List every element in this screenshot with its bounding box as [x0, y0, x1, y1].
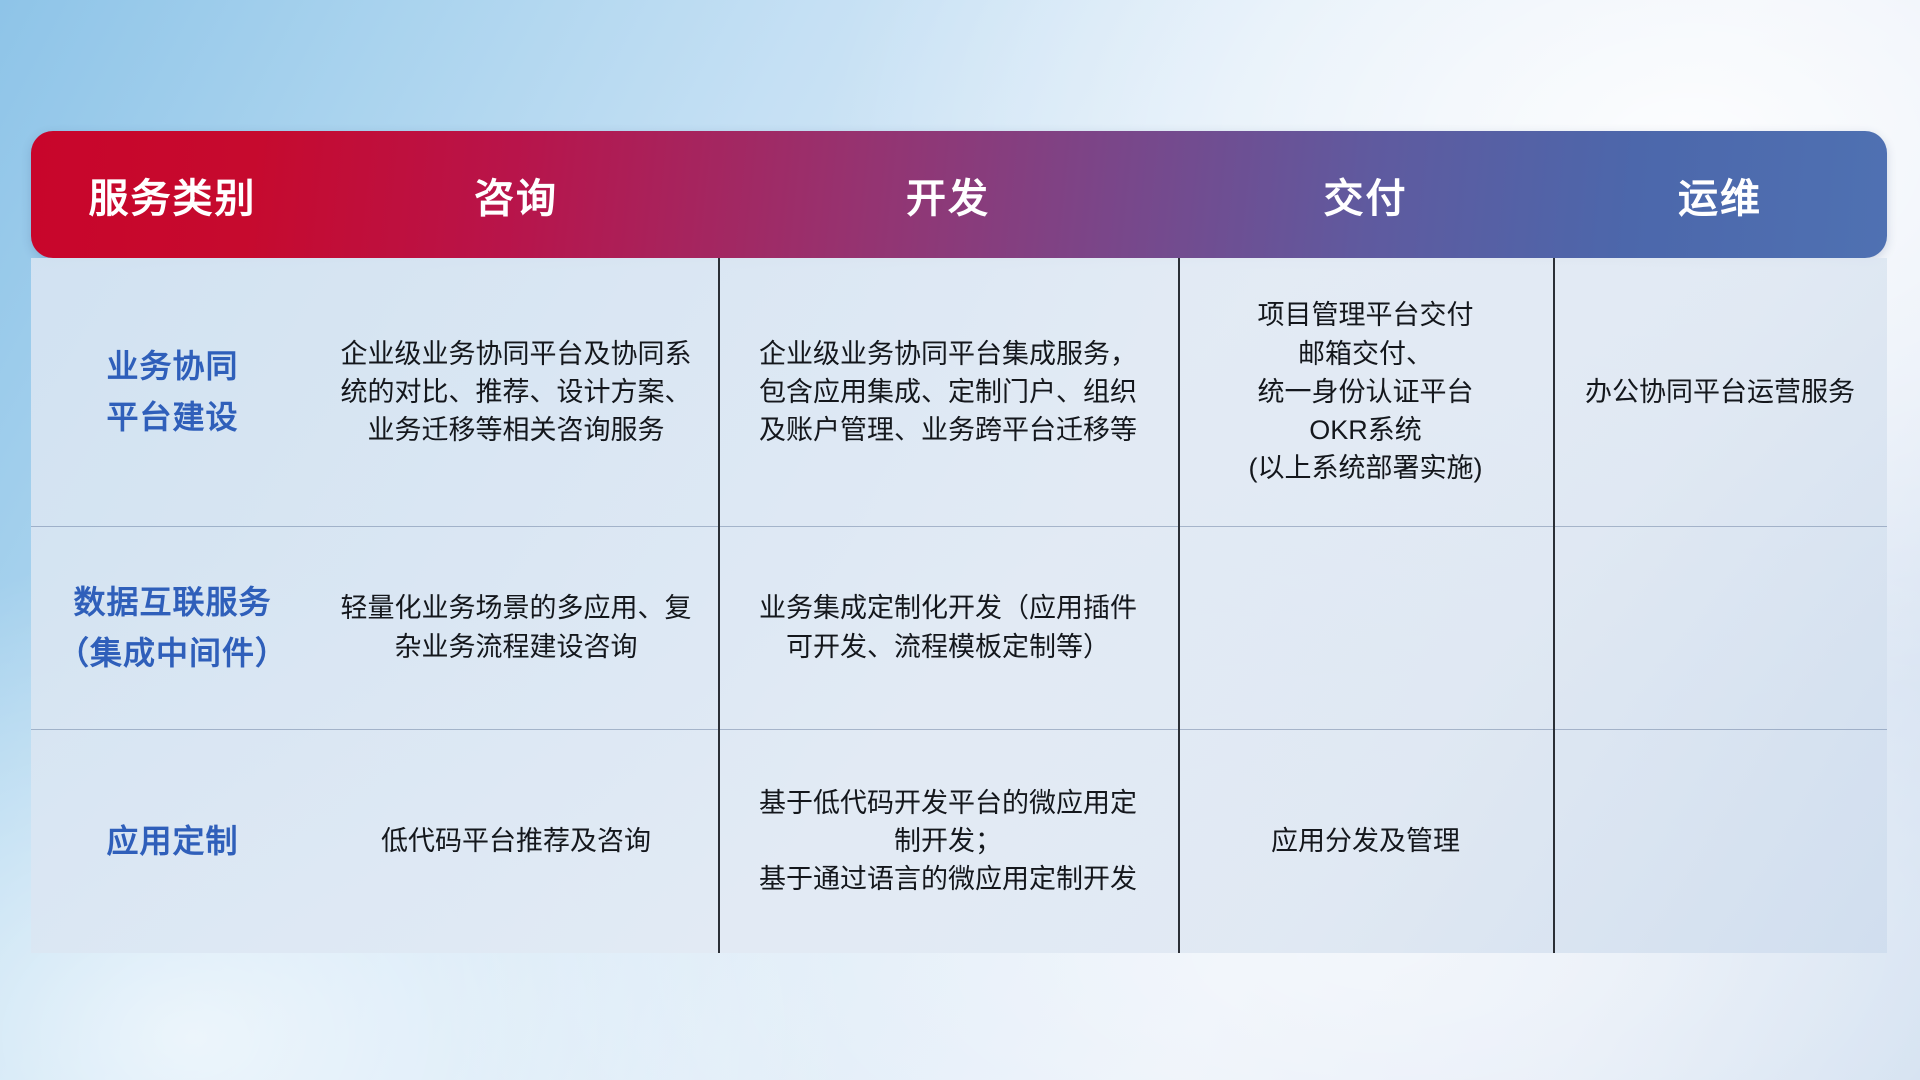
cell-delivery: 项目管理平台交付 邮箱交付、 统一身份认证平台 OKR系统 (以上系统部署实施) — [1178, 296, 1553, 488]
column-header-consulting: 咨询 — [314, 166, 718, 224]
row-divider — [31, 729, 1887, 730]
column-divider-delivery-operations — [1553, 258, 1555, 953]
service-matrix-table: 服务类别 咨询 开发 交付 运维 业务协同 平台建设 企业级业务协同平台及协同系… — [31, 131, 1887, 953]
column-divider-consulting-development — [718, 258, 720, 953]
column-header-delivery: 交付 — [1178, 166, 1553, 224]
column-header-operations: 运维 — [1553, 166, 1887, 224]
cell-consulting: 轻量化业务场景的多应用、复 杂业务流程建设咨询 — [314, 589, 718, 666]
row-category-label: 数据互联服务 （集成中间件） — [31, 577, 314, 678]
cell-operations: 办公协同平台运营服务 — [1553, 373, 1887, 411]
table-row: 业务协同 平台建设 企业级业务协同平台及协同系 统的对比、推荐、设计方案、 业务… — [31, 258, 1887, 526]
table-row: 应用定制 低代码平台推荐及咨询 基于低代码开发平台的微应用定 制开发； 基于通过… — [31, 729, 1887, 953]
column-header-service-category: 服务类别 — [31, 166, 314, 224]
table-header-row: 服务类别 咨询 开发 交付 运维 — [31, 131, 1887, 258]
slide-canvas: 服务类别 咨询 开发 交付 运维 业务协同 平台建设 企业级业务协同平台及协同系… — [0, 0, 1920, 1080]
cell-consulting: 企业级业务协同平台及协同系 统的对比、推荐、设计方案、 业务迁移等相关咨询服务 — [314, 335, 718, 450]
cell-delivery: 应用分发及管理 — [1178, 822, 1553, 860]
row-category-label: 业务协同 平台建设 — [31, 341, 314, 442]
table-body: 业务协同 平台建设 企业级业务协同平台及协同系 统的对比、推荐、设计方案、 业务… — [31, 258, 1887, 953]
cell-development: 企业级业务协同平台集成服务， 包含应用集成、定制门户、组织 及账户管理、业务跨平… — [718, 335, 1178, 450]
column-header-development: 开发 — [718, 166, 1178, 224]
row-category-label: 应用定制 — [31, 816, 314, 867]
column-divider-development-delivery — [1178, 258, 1180, 953]
cell-development: 业务集成定制化开发（应用插件 可开发、流程模板定制等） — [718, 589, 1178, 666]
cell-development: 基于低代码开发平台的微应用定 制开发； 基于通过语言的微应用定制开发 — [718, 784, 1178, 899]
row-divider — [31, 526, 1887, 527]
cell-consulting: 低代码平台推荐及咨询 — [314, 822, 718, 860]
table-row: 数据互联服务 （集成中间件） 轻量化业务场景的多应用、复 杂业务流程建设咨询 业… — [31, 526, 1887, 729]
